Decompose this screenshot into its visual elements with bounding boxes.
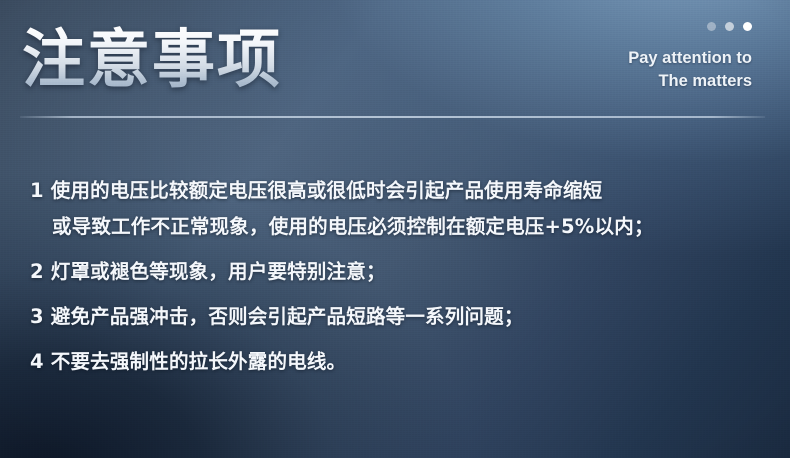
dot-icon-2 [725,22,734,31]
list-item: 2 灯罩或褪色等现象，用户要特别注意； [30,261,770,283]
subtitle-line-1: Pay attention to [628,47,752,70]
dot-icon-1 [707,22,716,31]
list-item: 1 使用的电压比较额定电压很高或很低时会引起产品使用寿命缩短 或导致工作不正常现… [30,180,770,238]
notice-text-4: 4 不要去强制性的拉长外露的电线。 [30,350,346,373]
notice-text-3: 3 避免产品强冲击，否则会引起产品短路等一系列问题； [30,305,524,328]
notice-text-2: 2 灯罩或褪色等现象，用户要特别注意； [30,260,386,283]
decorative-dots [707,22,752,31]
dot-icon-3 [743,22,752,31]
notice-text-1: 1 使用的电压比较额定电压很高或很低时会引起产品使用寿命缩短 [30,179,602,202]
list-item: 4 不要去强制性的拉长外露的电线。 [30,351,770,373]
notice-list: 1 使用的电压比较额定电压很高或很低时会引起产品使用寿命缩短 或导致工作不正常现… [30,180,770,373]
subtitle-line-2: The matters [628,70,752,93]
notice-text-1-continuation: 或导致工作不正常现象，使用的电压必须控制在额定电压+5%以内； [30,216,770,238]
header-divider [20,116,765,118]
poster-header: 注意事项 Pay attention to The matters [0,0,790,118]
page-title: 注意事项 [22,24,282,96]
subtitle-english: Pay attention to The matters [628,47,752,93]
notice-poster: 注意事项 Pay attention to The matters 1 使用的电… [0,0,790,458]
list-item: 3 避免产品强冲击，否则会引起产品短路等一系列问题； [30,306,770,328]
